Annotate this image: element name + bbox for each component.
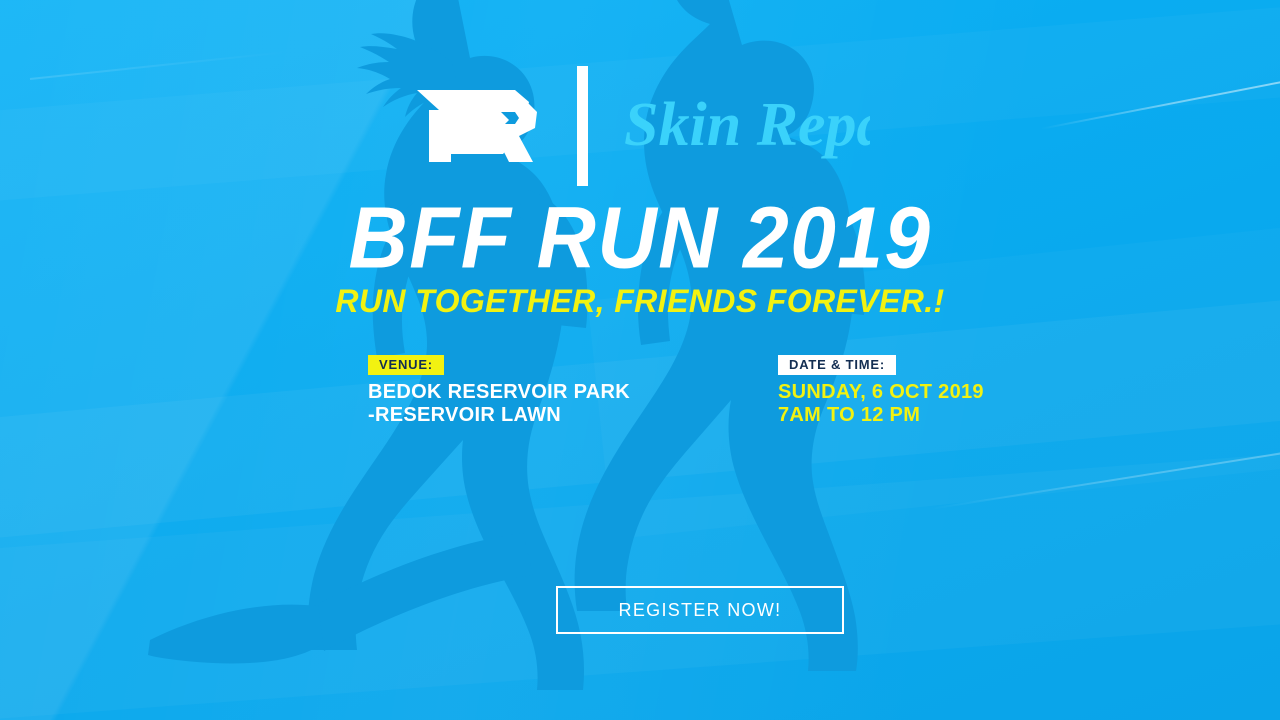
skin-repair-wordmark: Skin Repair bbox=[624, 91, 870, 159]
logo-divider bbox=[577, 66, 588, 186]
datetime-line-2: 7AM TO 12 PM bbox=[778, 404, 984, 427]
page-title: BFF RUN 2019 bbox=[0, 189, 1280, 289]
datetime-details: SUNDAY, 6 OCT 2019 7AM TO 12 PM bbox=[778, 381, 984, 427]
register-now-button[interactable]: REGISTER NOW! bbox=[556, 586, 844, 634]
venue-badge: VENUE: bbox=[368, 355, 444, 375]
event-info: VENUE: BEDOK RESERVOIR PARK -RESERVOIR L… bbox=[0, 355, 1280, 435]
venue-line-2: -RESERVOIR LAWN bbox=[368, 404, 630, 427]
br-brand-logo-icon bbox=[411, 84, 543, 168]
venue-line-1: BEDOK RESERVOIR PARK bbox=[368, 381, 630, 404]
event-poster: Skin Repair BFF RUN 2019 RUN TOGETHER, F… bbox=[0, 0, 1280, 720]
datetime-block: DATE & TIME: SUNDAY, 6 OCT 2019 7AM TO 1… bbox=[778, 355, 984, 427]
skin-repair-logo-icon: Skin Repair bbox=[622, 85, 870, 167]
logo-row: Skin Repair bbox=[0, 62, 1280, 190]
page-tagline: RUN TOGETHER, FRIENDS FOREVER.! bbox=[0, 282, 1280, 320]
datetime-badge: DATE & TIME: bbox=[778, 355, 896, 375]
venue-details: BEDOK RESERVOIR PARK -RESERVOIR LAWN bbox=[368, 381, 630, 427]
datetime-line-1: SUNDAY, 6 OCT 2019 bbox=[778, 381, 984, 404]
venue-block: VENUE: BEDOK RESERVOIR PARK -RESERVOIR L… bbox=[368, 355, 630, 427]
